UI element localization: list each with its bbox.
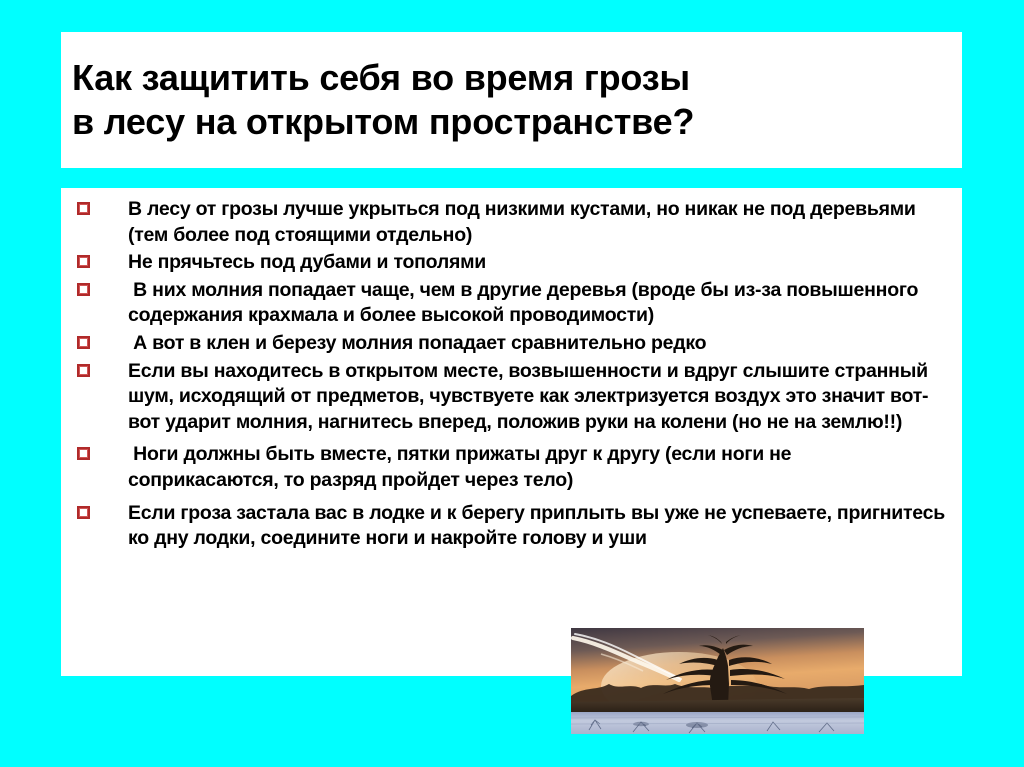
list-item: В лесу от грозы лучше укрыться под низки… [61, 197, 962, 248]
list-item-text: В лесу от грозы лучше укрыться под низки… [128, 197, 946, 248]
square-bullet-icon [77, 336, 90, 349]
square-bullet-icon [77, 364, 90, 377]
content-panel: В лесу от грозы лучше укрыться под низки… [61, 188, 962, 676]
list-item: В них молния попадает чаще, чем в другие… [61, 278, 962, 329]
square-bullet-icon [77, 447, 90, 460]
list-item-text: А вот в клен и березу молния попадает ср… [128, 331, 946, 357]
list-item-text: Ноги должны быть вместе, пятки прижаты д… [128, 442, 946, 493]
list-item: Если гроза застала вас в лодке и к берег… [61, 501, 962, 552]
square-bullet-icon [77, 506, 90, 519]
page-title: Как защитить себя во время грозы в лесу … [72, 56, 952, 144]
list-item-text: Не прячьтесь под дубами и тополями [128, 250, 946, 276]
square-bullet-icon [77, 202, 90, 215]
list-item-text: Если вы находитесь в открытом месте, воз… [128, 359, 946, 436]
title-panel: Как защитить себя во время грозы в лесу … [61, 32, 962, 168]
bullet-list: В лесу от грозы лучше укрыться под низки… [61, 197, 962, 552]
square-bullet-icon [77, 283, 90, 296]
list-item-text: В них молния попадает чаще, чем в другие… [128, 278, 946, 329]
list-item-text: Если гроза застала вас в лодке и к берег… [128, 501, 946, 552]
slide-canvas: Как защитить себя во время грозы в лесу … [0, 0, 1024, 767]
square-bullet-icon [77, 255, 90, 268]
list-item: Не прячьтесь под дубами и тополями [61, 250, 962, 276]
list-item: Если вы находитесь в открытом месте, воз… [61, 359, 962, 436]
lightning-tree-sunset-photo [571, 628, 864, 734]
list-item: Ноги должны быть вместе, пятки прижаты д… [61, 442, 962, 493]
list-item: А вот в клен и березу молния попадает ср… [61, 331, 962, 357]
photo-artwork [571, 628, 864, 734]
